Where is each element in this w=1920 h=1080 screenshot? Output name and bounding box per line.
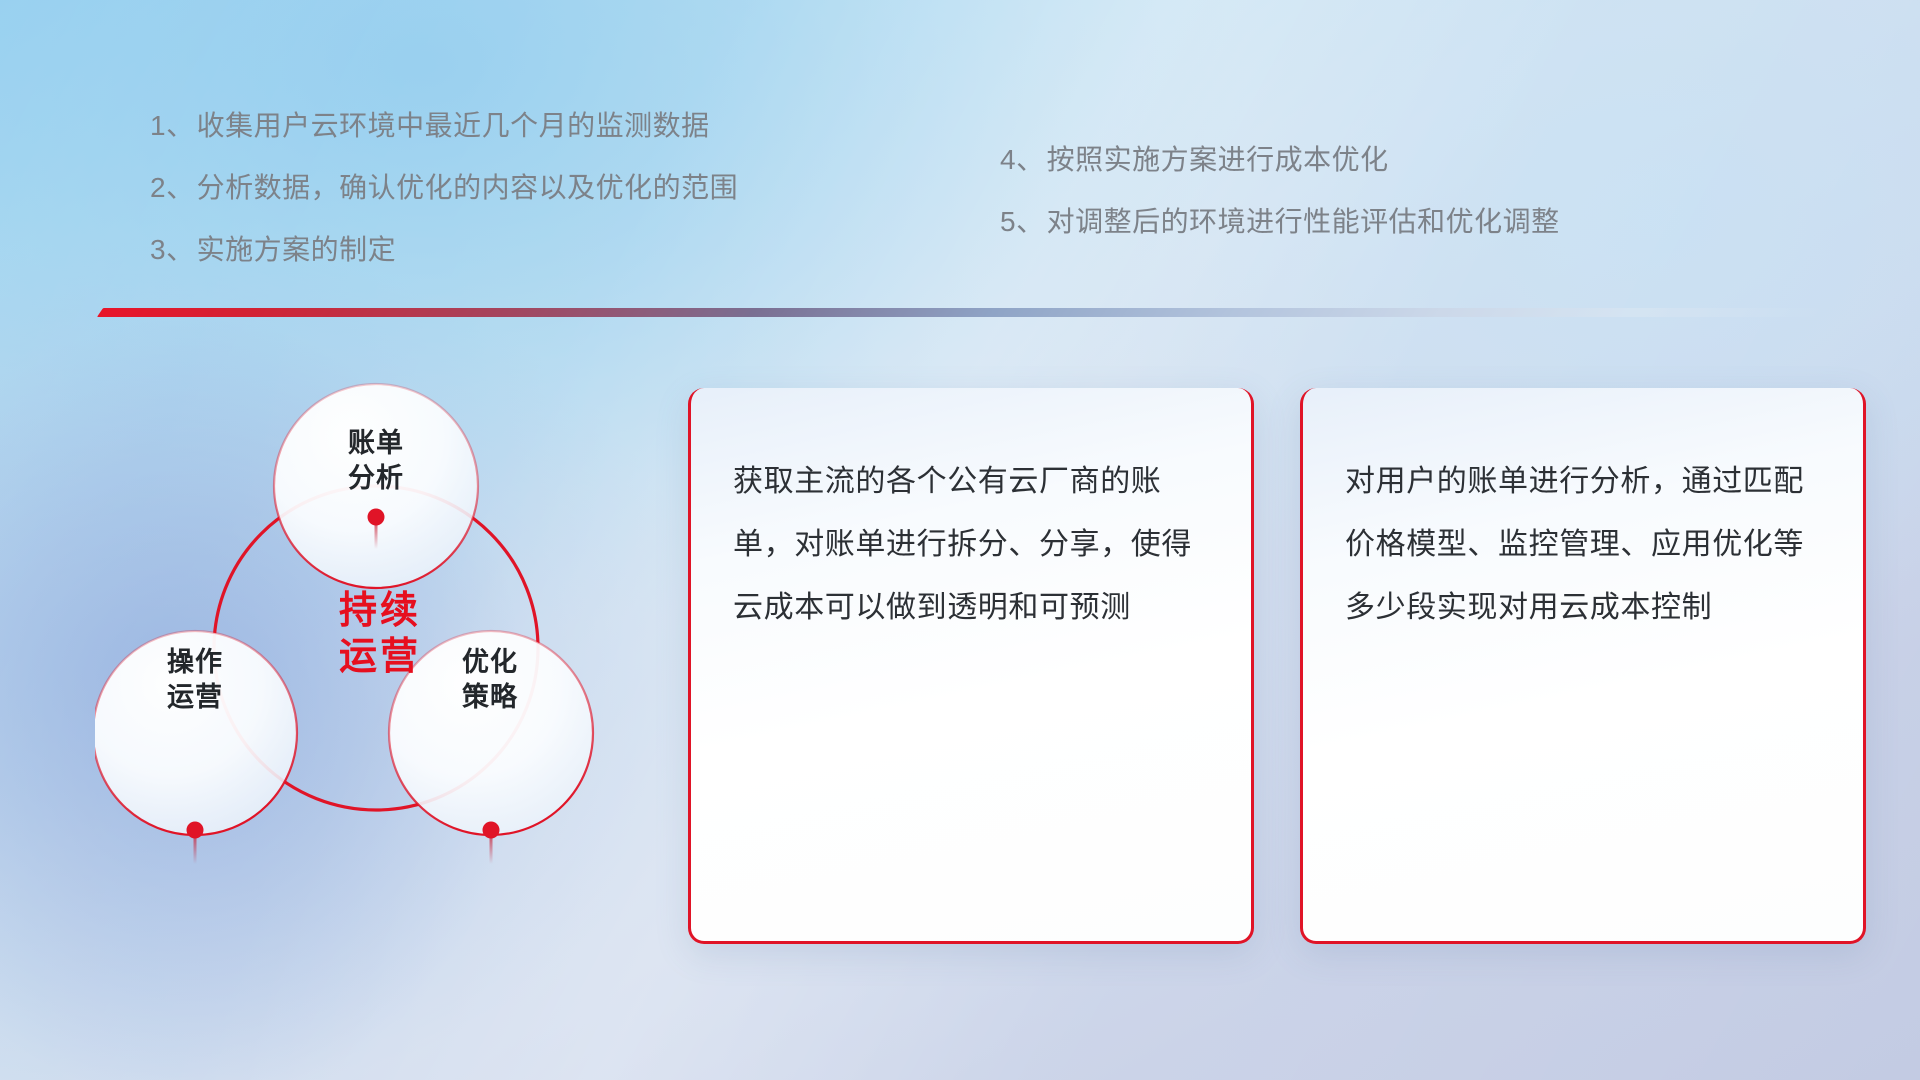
step-item: 3、实施方案的制定 xyxy=(150,236,738,264)
step-number: 3、 xyxy=(150,234,195,265)
step-number: 1、 xyxy=(150,110,195,141)
step-text: 对调整后的环境进行性能评估和优化调整 xyxy=(1047,206,1560,237)
step-text: 实施方案的制定 xyxy=(197,234,397,265)
step-number: 4、 xyxy=(1000,144,1045,175)
step-number: 5、 xyxy=(1000,206,1045,237)
slide-canvas: 1、收集用户云环境中最近几个月的监测数据 2、分析数据，确认优化的内容以及优化的… xyxy=(0,0,1920,1080)
step-item: 5、对调整后的环境进行性能评估和优化调整 xyxy=(1000,208,1560,236)
center-label-line: 运营 xyxy=(255,634,505,680)
continuous-operations-diagram: 账单 分析 操作 运营 优化 策略 持续 运营 xyxy=(95,350,675,950)
node-label-line: 账单 xyxy=(286,426,466,461)
connector-dot xyxy=(187,822,204,839)
connector-dot xyxy=(368,509,385,526)
node-label-line: 运营 xyxy=(105,680,285,715)
node-label-line: 分析 xyxy=(286,461,466,496)
step-item: 4、按照实施方案进行成本优化 xyxy=(1000,146,1560,174)
section-divider xyxy=(97,308,1823,317)
center-label-line: 持续 xyxy=(255,588,505,634)
node-label-billing-analysis: 账单 分析 xyxy=(286,426,466,496)
steps-left-column: 1、收集用户云环境中最近几个月的监测数据 2、分析数据，确认优化的内容以及优化的… xyxy=(150,112,738,298)
info-card-multi-cloud-billing-platform[interactable]: 获取主流的各个公有云厂商的账单，对账单进行拆分、分享，使得云成本可以做到透明和可… xyxy=(688,388,1254,944)
step-text: 收集用户云环境中最近几个月的监测数据 xyxy=(197,110,710,141)
steps-right-column: 4、按照实施方案进行成本优化 5、对调整后的环境进行性能评估和优化调整 xyxy=(1000,146,1560,270)
step-text: 分析数据，确认优化的内容以及优化的范围 xyxy=(197,172,739,203)
step-item: 2、分析数据，确认优化的内容以及优化的范围 xyxy=(150,174,738,202)
connector-dot xyxy=(483,822,500,839)
info-card-cloud-cost-optimization[interactable]: 对用户的账单进行分析，通过匹配价格模型、监控管理、应用优化等多少段实现对用云成本… xyxy=(1300,388,1866,944)
node-label-line: 策略 xyxy=(400,680,580,715)
card-description: 对用户的账单进行分析，通过匹配价格模型、监控管理、应用优化等多少段实现对用云成本… xyxy=(1345,450,1827,639)
step-number: 2、 xyxy=(150,172,195,203)
card-description: 获取主流的各个公有云厂商的账单，对账单进行拆分、分享，使得云成本可以做到透明和可… xyxy=(733,450,1215,639)
step-item: 1、收集用户云环境中最近几个月的监测数据 xyxy=(150,112,738,140)
step-text: 按照实施方案进行成本优化 xyxy=(1047,144,1389,175)
diagram-center-label: 持续 运营 xyxy=(255,588,505,681)
